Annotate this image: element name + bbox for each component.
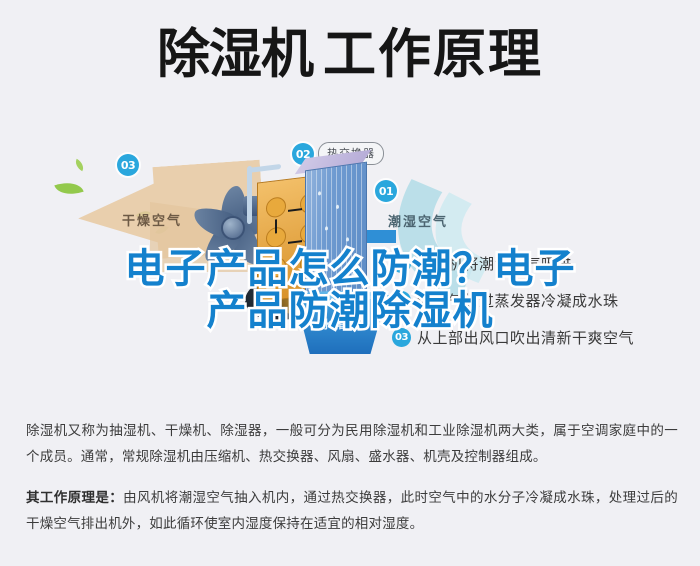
- paragraph-2: 其工作原理是：由风机将潮湿空气抽入机内，通过热交换器，此时空气中的水分子冷凝成水…: [26, 485, 678, 538]
- humid-air-label: 潮湿空气: [388, 211, 448, 230]
- article-body: 除湿机又称为抽湿机、干燥机、除湿器，一般可分为民用除湿机和工业除湿机两大类，属于…: [26, 418, 678, 537]
- title-part1: 除湿机: [157, 28, 313, 81]
- paragraph-2-text: 由风机将潮湿空气抽入机内，通过热交换器，此时空气中的水分子冷凝成水珠，处理过后的…: [26, 490, 678, 532]
- dry-air-label: 干燥空气: [122, 210, 182, 229]
- infographic-page: 除湿机工作原理 干燥空气 03 潮湿空气 01 02 热交换器: [0, 0, 700, 566]
- paragraph-2-lead: 其工作原理是：: [26, 490, 123, 506]
- overlay-headline-line2: 产品防潮除湿机: [0, 290, 700, 332]
- paragraph-1: 除湿机又称为抽湿机、干燥机、除湿器，一般可分为民用除湿机和工业除湿机两大类，属于…: [26, 418, 678, 471]
- diagram-badge-03: 03: [117, 154, 139, 176]
- leaf-icon: [73, 159, 87, 171]
- overlay-headline-line1: 电子产品怎么防潮？电子: [0, 248, 700, 290]
- page-title: 除湿机工作原理: [0, 28, 700, 81]
- diagram-badge-01: 01: [375, 180, 397, 202]
- overlay-headline: 电子产品怎么防潮？电子 产品防潮除湿机: [0, 248, 700, 332]
- title-part2: 工作原理: [323, 28, 543, 81]
- leaf-icon: [54, 177, 83, 199]
